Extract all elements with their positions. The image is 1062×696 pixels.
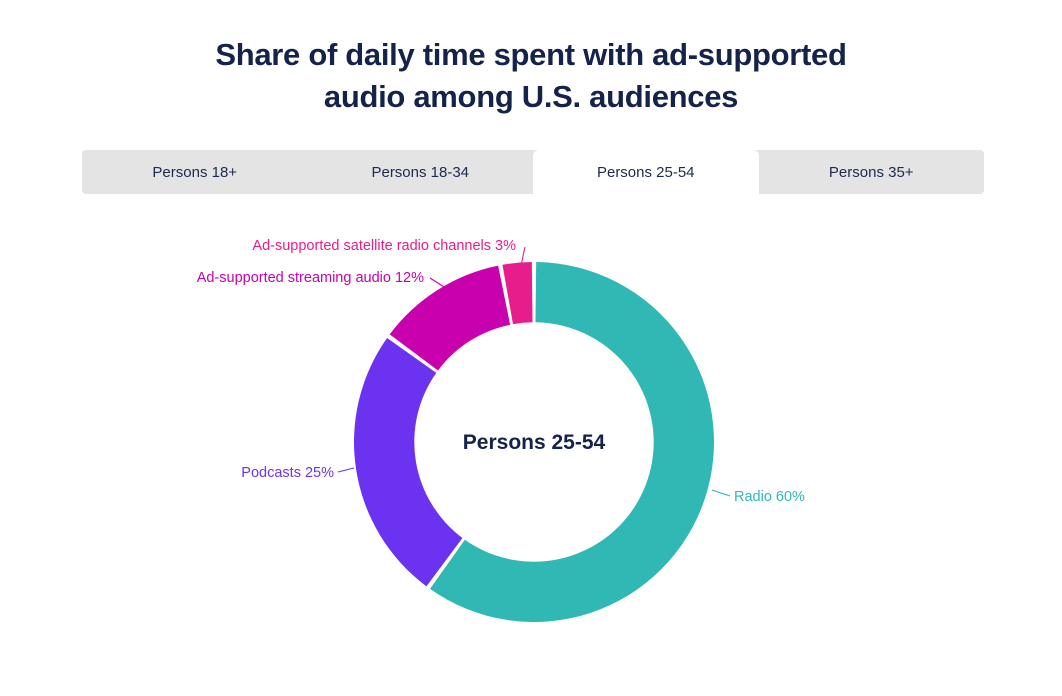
leader-line-radio — [712, 490, 730, 496]
audience-tab-bar: Persons 18+ Persons 18-34 Persons 25-54 … — [82, 150, 984, 194]
slice-label-satellite: Ad-supported satellite radio channels 3% — [252, 238, 516, 254]
slice-label-radio: Radio 60% — [734, 489, 805, 505]
tab-persons-18-34[interactable]: Persons 18-34 — [308, 150, 534, 194]
leader-line-podcasts — [338, 468, 354, 472]
donut-center-label: Persons 25-54 — [463, 431, 606, 454]
donut-slice-podcasts[interactable] — [354, 338, 462, 586]
slice-label-streaming: Ad-supported streaming audio 12% — [197, 270, 424, 286]
page-title: Share of daily time spent with ad-suppor… — [0, 34, 1062, 118]
tab-persons-35-plus[interactable]: Persons 35+ — [759, 150, 985, 194]
tab-persons-25-54[interactable]: Persons 25-54 — [533, 150, 759, 194]
page-title-line-1: Share of daily time spent with ad-suppor… — [0, 34, 1062, 76]
slice-label-podcasts: Podcasts 25% — [241, 465, 334, 481]
tab-persons-18-plus[interactable]: Persons 18+ — [82, 150, 308, 194]
donut-chart-container: Ad-supported satellite radio channels 3%… — [0, 200, 1062, 696]
donut-chart: Ad-supported satellite radio channels 3%… — [0, 200, 1062, 696]
page-title-line-2: audio among U.S. audiences — [0, 76, 1062, 118]
